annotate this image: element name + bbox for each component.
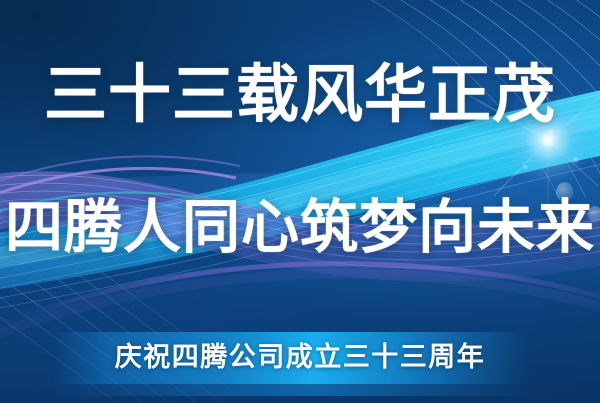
subtitle-container: 庆祝四腾公司成立三十三周年: [0, 339, 600, 375]
subtitle-band-shadow: [52, 384, 530, 396]
bokeh-dot-icon: [523, 165, 528, 170]
anniversary-poster: 三十三载风华正茂 四腾人同心筑梦向未来 庆祝四腾公司成立三十三周年: [0, 0, 600, 403]
bokeh-dot-icon: [573, 157, 579, 163]
bokeh-dot-icon: [548, 129, 556, 137]
headline-line-1: 三十三载风华正茂: [44, 60, 556, 130]
headline-line-1-container: 三十三载风华正茂: [0, 60, 600, 130]
headline-line-2-container: 四腾人同心筑梦向未来: [0, 195, 600, 261]
subtitle-text: 庆祝四腾公司成立三十三周年: [115, 342, 486, 372]
headline-line-2: 四腾人同心筑梦向未来: [5, 195, 595, 260]
